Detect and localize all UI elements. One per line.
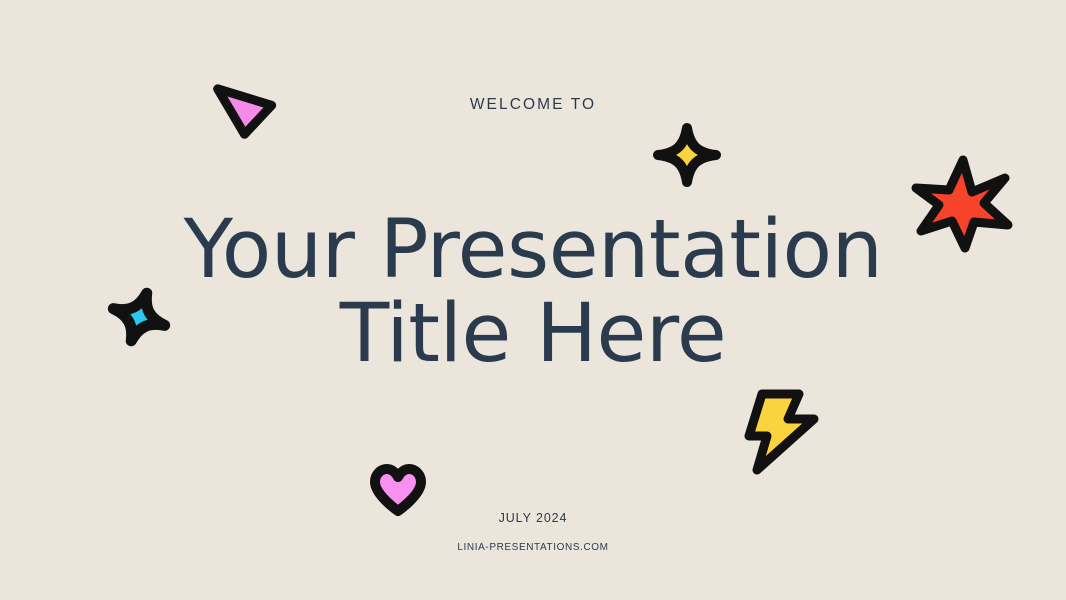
heart-icon (368, 464, 428, 516)
lightning-bolt-icon (736, 386, 828, 478)
eyebrow-text: WELCOME TO (0, 96, 1066, 114)
presentation-title-slide: WELCOME TO Your Presentation Title Here … (0, 0, 1066, 600)
date-text: JULY 2024 (0, 511, 1066, 525)
website-url-text: LINIA-PRESENTATIONS.COM (0, 542, 1066, 553)
title-line-2: Title Here (0, 292, 1066, 376)
sparkle-icon (652, 122, 722, 188)
page-title: Your Presentation Title Here (0, 208, 1066, 376)
title-line-1: Your Presentation (0, 208, 1066, 292)
